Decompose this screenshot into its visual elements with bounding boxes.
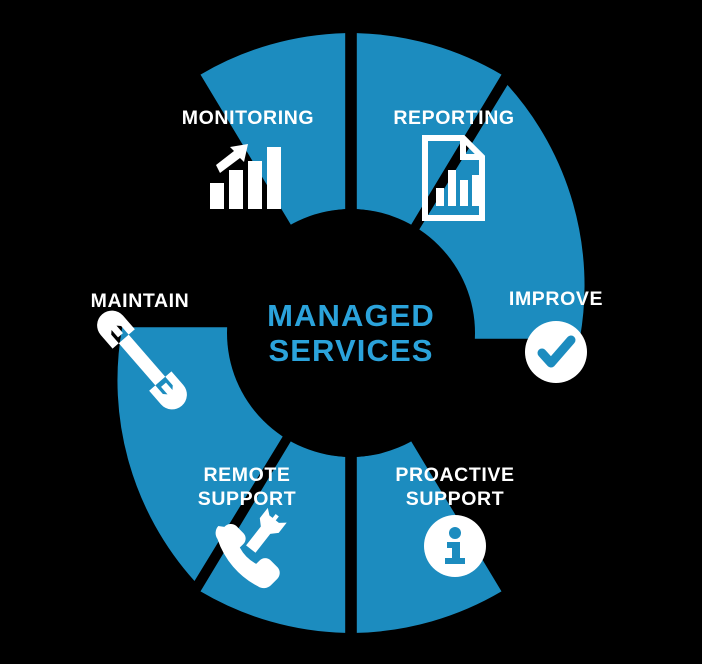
check-circle-icon	[525, 321, 587, 383]
center-title-line-2: SERVICES	[268, 333, 433, 368]
segment-maintain-label: MAINTAIN	[91, 290, 190, 312]
segment-remote-support-label-line-2: SUPPORT	[198, 488, 296, 510]
center-title-line-1: MANAGED	[267, 298, 435, 333]
bar-chart-growth-icon	[210, 144, 281, 209]
segment-improve-label: IMPROVE	[509, 288, 603, 310]
segment-proactive-support-label-line-2: SUPPORT	[406, 488, 504, 510]
wheel-svg: MANAGED SERVICES MONITORING REPORTING IM…	[0, 0, 702, 664]
managed-services-wheel-diagram: MANAGED SERVICES MONITORING REPORTING IM…	[0, 0, 702, 664]
segment-reporting-label: REPORTING	[393, 107, 514, 129]
center-title: MANAGED SERVICES	[267, 298, 435, 368]
segment-remote-support-label-line-1: REMOTE	[203, 464, 290, 486]
segment-proactive-support-label-line-1: PROACTIVE	[395, 464, 514, 486]
segment-monitoring-label: MONITORING	[182, 107, 314, 129]
info-circle-icon	[424, 515, 486, 577]
